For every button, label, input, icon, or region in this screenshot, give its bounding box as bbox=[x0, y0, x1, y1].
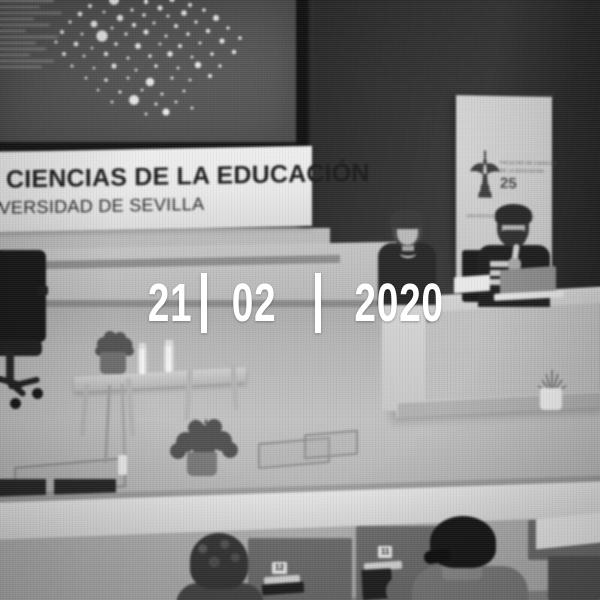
chair-wheel bbox=[10, 398, 21, 409]
screen-text-lines bbox=[0, 0, 70, 80]
floor-hatch bbox=[304, 430, 358, 460]
water-bottle bbox=[164, 345, 174, 372]
wall-sign-line2: NIVERSIDAD DE SEVILLA bbox=[0, 192, 312, 216]
small-plant-pot bbox=[540, 388, 562, 410]
banner-line2: DE LA EDUCACIÓN bbox=[500, 168, 544, 174]
floor-plant-pot bbox=[187, 452, 217, 476]
panelist-woman-necklace bbox=[400, 249, 416, 258]
papers-on-desk bbox=[454, 275, 490, 294]
panelist-woman-hair bbox=[390, 209, 424, 229]
screen-frame-right bbox=[296, 0, 308, 148]
seat-number-label: 11 bbox=[378, 546, 392, 558]
seat-number-label: 12 bbox=[272, 562, 287, 574]
pole-base bbox=[118, 455, 127, 475]
table-plant-pot bbox=[100, 352, 126, 374]
winged-figure-crest-icon bbox=[468, 149, 502, 202]
banner-line1: FACULTAD DE CIENCIAS bbox=[500, 160, 557, 166]
presenter-man-hair bbox=[495, 204, 532, 225]
office-chair-arm bbox=[38, 286, 48, 295]
conference-photo: E CIENCIAS DE LA EDUCACIÓN NIVERSIDAD DE… bbox=[0, 0, 600, 600]
audience-seat-back bbox=[548, 556, 600, 600]
wall-sign-line1: E CIENCIAS DE LA EDUCACIÓN bbox=[0, 161, 312, 192]
audience-person-head bbox=[190, 533, 248, 589]
bottle-cap bbox=[139, 343, 146, 349]
office-chair-back bbox=[0, 250, 46, 342]
chair-wheel bbox=[32, 388, 43, 399]
water-bottle bbox=[138, 348, 147, 374]
bottle-cap bbox=[165, 340, 173, 346]
banner-anniversary: 25 bbox=[500, 176, 517, 191]
desk-side-panel bbox=[382, 298, 426, 413]
projection-screen bbox=[0, 0, 306, 146]
wall-sign: E CIENCIAS DE LA EDUCACIÓN NIVERSIDAD DE… bbox=[0, 146, 312, 232]
curly-hair-texture bbox=[190, 533, 248, 589]
floor-plant bbox=[160, 418, 250, 480]
